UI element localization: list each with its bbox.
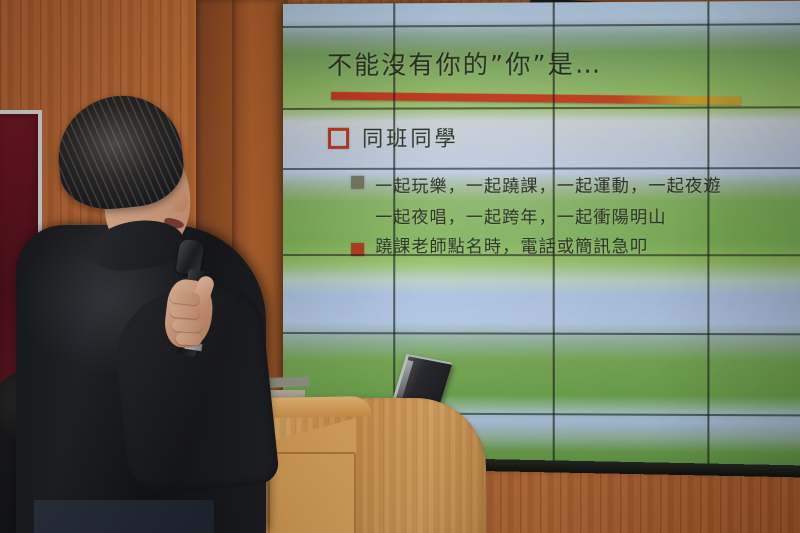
screen-mullion-horizontal xyxy=(283,254,800,256)
speaker-finger xyxy=(170,305,201,320)
speaker xyxy=(0,0,300,533)
speaker-jeans xyxy=(34,500,214,533)
speaker-finger xyxy=(176,332,203,345)
photo-scene: 不能沒有你的”你”是… 同班同學 一起玩樂，一起蹺課，一起運動，一起夜遊 一起夜… xyxy=(0,0,800,533)
speaker-finger xyxy=(172,319,203,333)
screen-mullion-vertical xyxy=(707,1,709,468)
screen-mullion-vertical xyxy=(553,2,555,467)
